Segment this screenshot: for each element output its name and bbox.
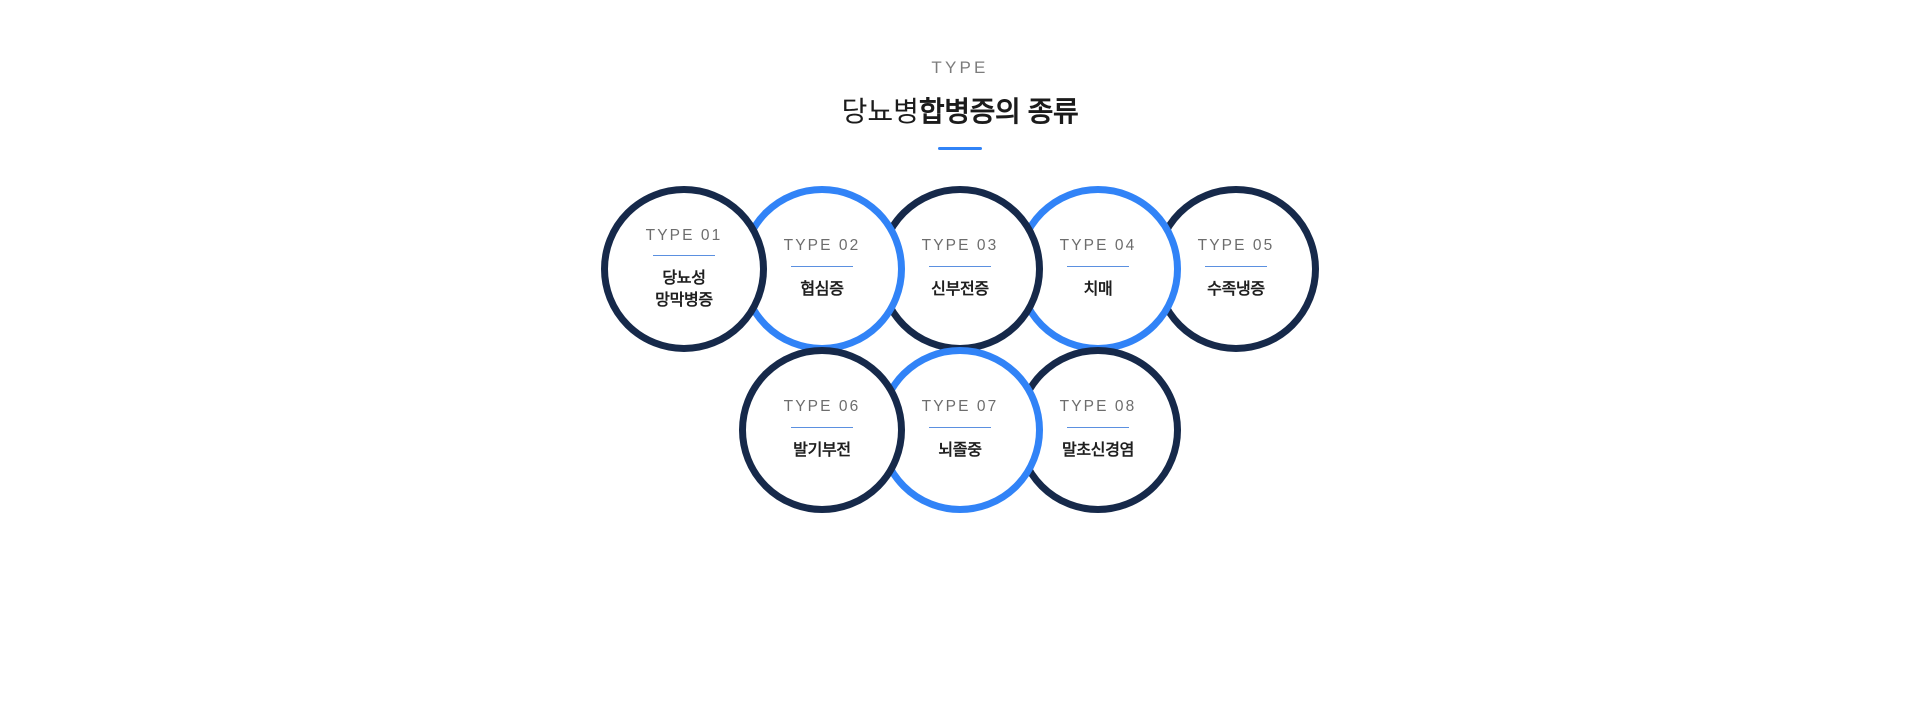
title-underline-rule (938, 147, 982, 150)
bubble-name-label: 치매 (1084, 279, 1113, 301)
bubble-type-label: TYPE 01 (646, 227, 723, 244)
bubble-name-label: 수족냉증 (1207, 279, 1265, 301)
bubble-type-label: TYPE 07 (922, 398, 999, 415)
bubble-type-label: TYPE 05 (1198, 237, 1275, 254)
bubble-type-label: TYPE 08 (1060, 398, 1137, 415)
bubble-divider-rule (1205, 266, 1267, 267)
bubble-type-label: TYPE 02 (784, 237, 861, 254)
section-header: TYPE 당뇨병합병증의 종류 (0, 58, 1920, 150)
bubble-divider-rule (1067, 427, 1129, 428)
section-eyebrow: TYPE (0, 58, 1920, 78)
bubble-type-label: TYPE 06 (784, 398, 861, 415)
page-title: 당뇨병합병증의 종류 (0, 94, 1920, 129)
bubble-divider-rule (791, 427, 853, 428)
type-bubble-grid: TYPE 01당뇨성 망막병증TYPE 02협심증TYPE 03신부전증TYPE… (0, 186, 1920, 513)
page-title-thin: 당뇨병 (842, 96, 919, 127)
bubble-type-label: TYPE 04 (1060, 237, 1137, 254)
infographic-canvas: TYPE 당뇨병합병증의 종류 TYPE 01당뇨성 망막병증TYPE 02협심… (0, 0, 1920, 710)
bubble-name-label: 뇌졸중 (938, 440, 981, 462)
bubble-name-label: 신부전증 (931, 279, 989, 301)
bubble-name-label: 말초신경염 (1062, 440, 1134, 462)
bubble-row-top: TYPE 01당뇨성 망막병증TYPE 02협심증TYPE 03신부전증TYPE… (0, 186, 1920, 352)
bubble-divider-rule (791, 266, 853, 267)
type-bubble-type-06[interactable]: TYPE 06발기부전 (739, 347, 905, 513)
bubble-divider-rule (1067, 266, 1129, 267)
page-title-bold: 합병증의 종류 (919, 96, 1079, 127)
bubble-divider-rule (653, 255, 715, 256)
type-bubble-type-01[interactable]: TYPE 01당뇨성 망막병증 (601, 186, 767, 352)
bubble-name-label: 협심증 (800, 279, 843, 301)
bubble-type-label: TYPE 03 (922, 237, 999, 254)
bubble-name-label: 당뇨성 망막병증 (655, 268, 713, 311)
bubble-row-bottom: TYPE 06발기부전TYPE 07뇌졸중TYPE 08말초신경염 (0, 347, 1920, 513)
bubble-divider-rule (929, 266, 991, 267)
bubble-divider-rule (929, 427, 991, 428)
bubble-name-label: 발기부전 (793, 440, 851, 462)
